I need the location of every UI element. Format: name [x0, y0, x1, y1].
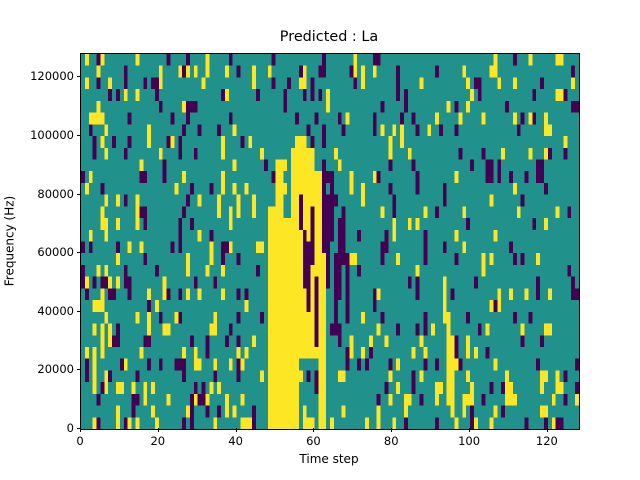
matplotlib-figure: Predicted : La Frequency (Hz) 0200004000… — [0, 0, 640, 480]
heatmap-plot-area[interactable] — [80, 53, 580, 430]
y-tick-mark — [77, 194, 81, 195]
x-tick-mark — [80, 428, 81, 432]
x-tick-mark — [547, 428, 548, 432]
x-tick-label: 60 — [306, 434, 321, 448]
y-tick-label: 0 — [67, 421, 74, 435]
x-tick-label: 20 — [150, 434, 165, 448]
heatmap-image — [81, 54, 579, 429]
y-tick-mark — [77, 135, 81, 136]
y-tick-mark — [77, 311, 81, 312]
page-title: Predicted : La — [80, 28, 578, 46]
y-tick-label: 40000 — [37, 304, 74, 318]
x-tick-mark — [313, 428, 314, 432]
x-tick-mark — [469, 428, 470, 432]
x-axis-label: Time step — [80, 452, 578, 466]
x-tick-label: 80 — [384, 434, 399, 448]
x-tick-label: 0 — [76, 434, 83, 448]
y-tick-label: 20000 — [37, 362, 74, 376]
y-tick-label: 60000 — [37, 245, 74, 259]
x-tick-mark — [158, 428, 159, 432]
y-tick-label: 100000 — [30, 128, 74, 142]
y-tick-mark — [77, 76, 81, 77]
x-tick-label: 100 — [458, 434, 480, 448]
y-tick-mark — [77, 252, 81, 253]
y-axis-label-text: Frequency (Hz) — [2, 195, 16, 286]
y-tick-label: 80000 — [37, 187, 74, 201]
x-tick-mark — [236, 428, 237, 432]
y-axis-label: Frequency (Hz) — [0, 53, 18, 428]
y-tick-label: 120000 — [30, 69, 74, 83]
y-tick-mark — [77, 369, 81, 370]
x-tick-label: 120 — [536, 434, 558, 448]
x-tick-label: 40 — [228, 434, 243, 448]
x-tick-mark — [391, 428, 392, 432]
